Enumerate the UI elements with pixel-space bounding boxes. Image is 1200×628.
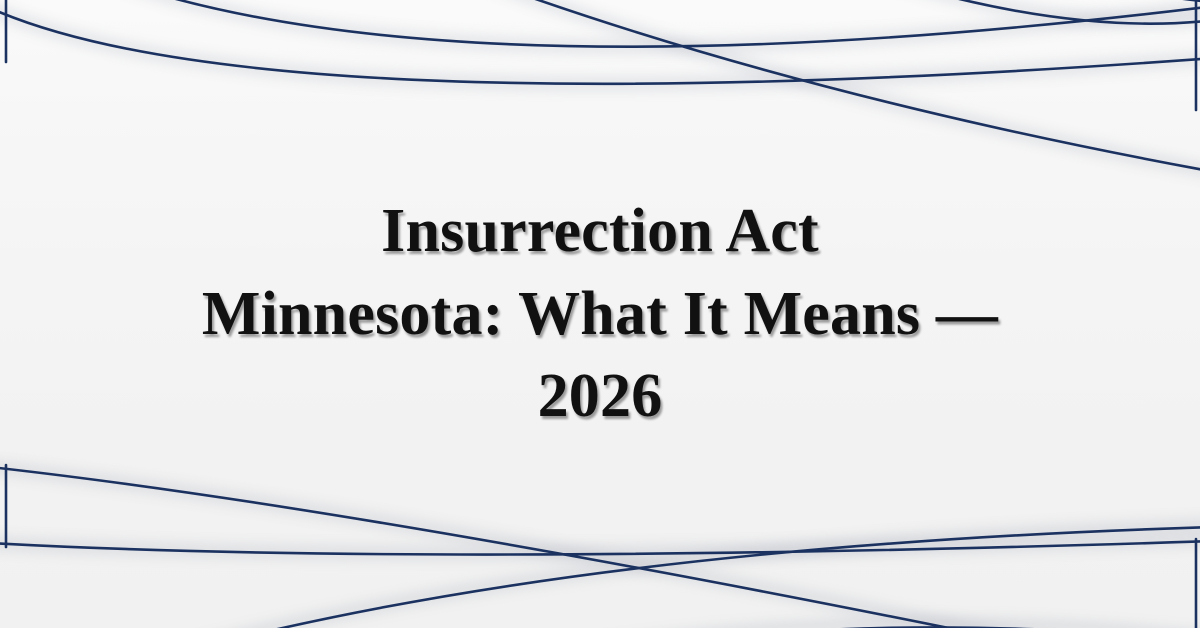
headline-block: Insurrection Act Minnesota: What It Mean… <box>0 0 1200 628</box>
og-hero-card: Insurrection Act Minnesota: What It Mean… <box>0 0 1200 628</box>
headline-line-1: Insurrection Act <box>60 190 1140 272</box>
headline-line-2: Minnesota: What It Means — <box>60 273 1140 355</box>
headline-line-3: 2026 <box>60 355 1140 437</box>
